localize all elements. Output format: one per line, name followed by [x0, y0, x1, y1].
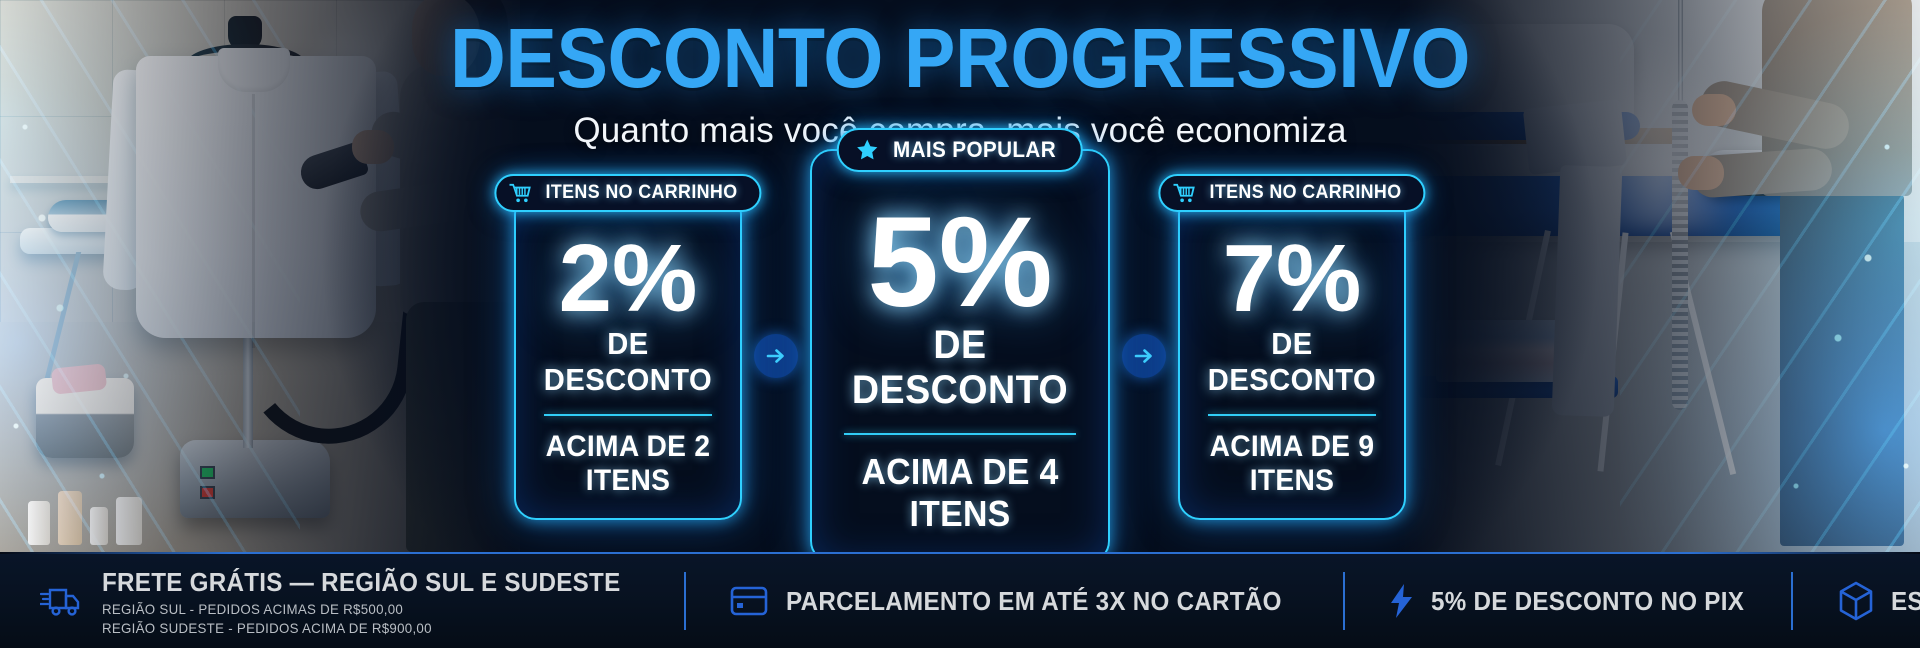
benefit-item-stock: ESTOQUE À PRONTA ENTREGA [1793, 554, 1920, 648]
tier-1-percent: 2% [530, 236, 726, 322]
tier-3-percent: 7% [1194, 236, 1390, 322]
benefit-item-pix: 5% DE DESCONTO NO PIX [1345, 554, 1794, 648]
tier-1-badge-label: ITENS NO CARRINHO [546, 182, 738, 204]
discount-card-tier-2[interactable]: MAIS POPULAR 5% DE DESCONTO ACIMA DE 4 I… [810, 149, 1110, 562]
lightning-bolt-icon [1387, 583, 1415, 619]
credit-card-icon [730, 584, 770, 618]
tier-3-threshold: ACIMA DE 9 ITENS [1200, 430, 1384, 498]
discount-tiers: ITENS NO CARRINHO 2% DE DESCONTO ACIMA D… [0, 196, 1920, 516]
benefit-shipping-title: FRETE GRÁTIS — REGIÃO SUL E SUDESTE [102, 567, 621, 598]
shopping-cart-icon [509, 183, 531, 203]
tier-3-discount-label: DE DESCONTO [1200, 326, 1384, 398]
tier-2-badge-label: MAIS POPULAR [893, 137, 1056, 163]
benefit-item-shipping: FRETE GRÁTIS — REGIÃO SUL E SUDESTE REGI… [0, 554, 686, 648]
tier-3-divider [1208, 414, 1376, 416]
benefits-bar: FRETE GRÁTIS — REGIÃO SUL E SUDESTE REGI… [0, 554, 1920, 648]
benefit-installments-title: PARCELAMENTO EM ATÉ 3X NO CARTÃO [786, 586, 1282, 617]
tier-1-divider [544, 414, 712, 416]
arrow-right-icon [754, 334, 798, 378]
tier-1-threshold: ACIMA DE 2 ITENS [536, 430, 720, 498]
benefit-pix-title: 5% DE DESCONTO NO PIX [1431, 586, 1744, 617]
cube-box-icon [1837, 581, 1875, 621]
discount-card-tier-1[interactable]: ITENS NO CARRINHO 2% DE DESCONTO ACIMA D… [514, 192, 742, 520]
promo-banner: DESCONTO PROGRESSIVO Quanto mais você co… [0, 0, 1920, 648]
arrow-right-icon [1122, 334, 1166, 378]
tier-2-divider [844, 433, 1076, 435]
benefit-stock-title: ESTOQUE À PRONTA ENTREGA [1891, 586, 1920, 617]
discount-card-tier-3[interactable]: ITENS NO CARRINHO 7% DE DESCONTO ACIMA D… [1178, 192, 1406, 520]
tier-2-percent: 5% [828, 205, 1092, 320]
tier-1-discount-label: DE DESCONTO [536, 326, 720, 398]
tier-3-badge-label: ITENS NO CARRINHO [1210, 182, 1402, 204]
benefit-item-installments: PARCELAMENTO EM ATÉ 3X NO CARTÃO [686, 554, 1345, 648]
page-title: DESCONTO PROGRESSIVO [77, 18, 1843, 99]
benefit-shipping-sub1: REGIÃO SUL - PEDIDOS ACIMAS DE R$500,00 [102, 601, 632, 617]
benefit-shipping-sub2: REGIÃO SUDESTE - PEDIDOS ACIMA DE R$900,… [102, 620, 632, 636]
tier-2-badge: MAIS POPULAR [837, 128, 1083, 172]
tier-3-badge: ITENS NO CARRINHO [1158, 174, 1425, 212]
tier-2-threshold: ACIMA DE 4 ITENS [836, 451, 1084, 535]
tier-2-discount-label: DE DESCONTO [836, 323, 1084, 413]
shopping-cart-icon [1173, 183, 1195, 203]
tier-1-badge: ITENS NO CARRINHO [494, 174, 761, 212]
star-icon [855, 138, 880, 162]
delivery-truck-icon [40, 583, 86, 619]
